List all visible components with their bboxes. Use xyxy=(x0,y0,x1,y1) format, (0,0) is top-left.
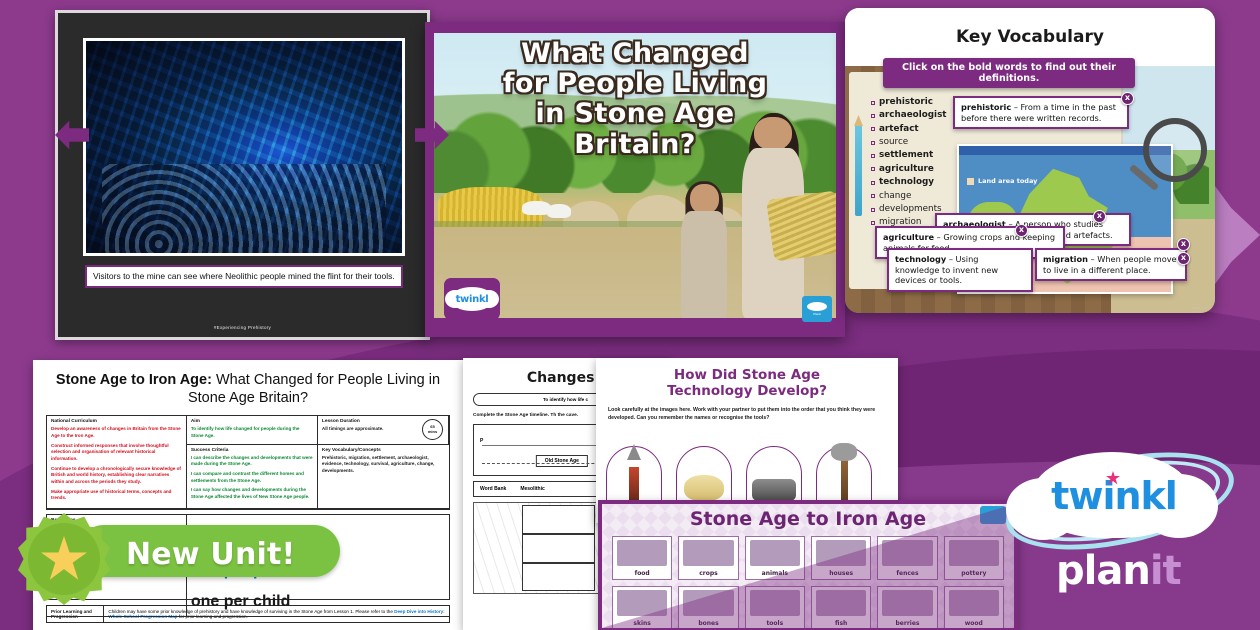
checkbox-icon xyxy=(871,194,875,198)
resource-item: one per child xyxy=(191,590,445,613)
planit-plan: plan xyxy=(1056,548,1150,594)
cave-photo-frame xyxy=(83,38,405,256)
close-icon[interactable]: x xyxy=(1093,210,1106,223)
vocabulary-word-list: prehistoric archaeologist artefact sourc… xyxy=(871,96,947,230)
cave-photo-caption: Visitors to the mine can see where Neoli… xyxy=(85,265,403,288)
next-arrow-glyph xyxy=(415,118,449,152)
cell-label: fences xyxy=(896,570,918,577)
tech-title-line-2: Technology Develop? xyxy=(612,383,882,399)
title-slide[interactable]: What Changed for People Living in Stone … xyxy=(425,22,845,337)
national-curriculum-cell: National Curriculum Develop an awareness… xyxy=(47,416,187,509)
fish-icon xyxy=(816,590,866,616)
new-unit-badge: New Unit! xyxy=(18,513,343,587)
checkbox-icon xyxy=(871,154,875,158)
vocab-item[interactable]: artefact xyxy=(871,123,947,136)
word-mat-cell[interactable]: crops xyxy=(678,536,738,580)
tool-card-axe[interactable] xyxy=(816,446,872,502)
checkbox-icon xyxy=(871,181,875,185)
definition-term: migration xyxy=(1043,254,1088,264)
prev-arrow-glyph xyxy=(55,118,89,152)
stone-age-word-mat[interactable]: Stone Age to Iron Age food crops animals… xyxy=(598,500,1018,630)
vocab-item[interactable]: agriculture xyxy=(871,163,947,176)
nc-item: Develop an awareness of changes in Brita… xyxy=(51,426,182,439)
sc-item: I can say how changes and developments d… xyxy=(191,487,313,500)
tool-card-arrow[interactable] xyxy=(606,446,662,502)
definition-dash: – xyxy=(1014,102,1018,112)
definition-dash: – xyxy=(1091,254,1095,264)
planit-wordmark: planit xyxy=(1056,548,1226,594)
lesson-plan-table: National Curriculum Develop an awareness… xyxy=(46,415,450,510)
technology-develop-card[interactable]: How Did Stone Age Technology Develop? Lo… xyxy=(596,358,898,523)
nc-item: Make appropriate use of historical terms… xyxy=(51,489,182,502)
definition-term: prehistoric xyxy=(961,102,1011,112)
vocab-item[interactable]: change xyxy=(871,190,947,203)
title-line-3: in Stone Age xyxy=(438,99,832,129)
tech-title-line-1: How Did Stone Age xyxy=(612,367,882,383)
checkbox-icon xyxy=(871,208,875,212)
cell-label: animals xyxy=(762,570,788,577)
word-mat-grid: food crops animals houses fences pottery… xyxy=(602,530,1014,630)
map-title-bar xyxy=(959,146,1171,155)
aim-heading: Aim xyxy=(191,419,313,424)
word-mat-title: Stone Age to Iron Age xyxy=(602,504,1014,530)
word-mat-cell[interactable]: bones xyxy=(678,586,738,630)
close-icon[interactable]: x xyxy=(1121,92,1134,105)
vocab-instruction-banner: Click on the bold words to find out thei… xyxy=(883,58,1135,88)
cell-label: berries xyxy=(896,620,920,627)
diagram-box xyxy=(522,563,595,592)
child-head xyxy=(690,184,719,214)
close-icon[interactable]: x xyxy=(1015,224,1028,237)
next-arrow-icon[interactable] xyxy=(415,118,449,152)
prev-arrow-icon[interactable] xyxy=(55,118,89,152)
scene-child-figure xyxy=(675,181,735,318)
slide-title: What Changed for People Living in Stone … xyxy=(428,39,842,160)
tech-tool-row xyxy=(606,446,888,502)
vocab-word: technology xyxy=(879,176,934,189)
lesson-plan-title: Stone Age to Iron Age: What Changed for … xyxy=(33,360,463,415)
nc-item: Construct informed responses that involv… xyxy=(51,443,182,463)
definition-dash: – xyxy=(937,232,941,242)
word-bank-entry: Mesolithic xyxy=(520,486,544,492)
title-line-1: What Changed xyxy=(438,39,832,69)
vocab-item[interactable]: archaeologist xyxy=(871,109,947,122)
cell-label: houses xyxy=(829,570,853,577)
arrow-tool-icon xyxy=(629,467,639,501)
vocab-word: agriculture xyxy=(879,163,934,176)
tool-card-flint[interactable] xyxy=(746,446,802,502)
cloud-icon: twinkl xyxy=(450,287,494,311)
tools-icon xyxy=(750,590,800,616)
cave-slide-footer: #Experiencing Prehistory xyxy=(58,325,427,330)
checkbox-icon xyxy=(871,114,875,118)
vocab-item[interactable]: technology xyxy=(871,176,947,189)
lesson-plan-title-rest: What Changed for People Living in Stone … xyxy=(188,372,440,406)
food-icon xyxy=(617,540,667,566)
close-icon[interactable]: x xyxy=(1177,252,1190,265)
definition-term: agriculture xyxy=(883,232,934,242)
twinkl-planit-logo: twinkl planit xyxy=(996,444,1246,614)
key-vocabulary-cell: Key Vocabulary/Concepts Prehistoric, mig… xyxy=(318,445,449,509)
cell-label: food xyxy=(635,570,650,577)
axe-tool-icon xyxy=(841,453,848,501)
vocab-word: source xyxy=(879,136,908,149)
child-body xyxy=(681,211,727,318)
cell-label: bones xyxy=(698,620,718,627)
stone-tool-icon xyxy=(684,475,724,501)
key-vocabulary-slide[interactable]: Key Vocabulary Land area today xyxy=(845,8,1215,313)
diagram-box xyxy=(522,505,595,534)
legend-swatch xyxy=(967,178,974,185)
flint-mine-photo xyxy=(86,41,402,253)
twinkl-wordmark: twinkl xyxy=(456,294,489,305)
skins-icon xyxy=(617,590,667,616)
star-icon xyxy=(41,536,87,582)
checkbox-icon xyxy=(871,141,875,145)
aim-text: To identify how life changed for people … xyxy=(191,426,313,439)
title-line-2: for People Living xyxy=(438,69,832,99)
word-mat-cell[interactable]: berries xyxy=(877,586,937,630)
tech-card-instruction: Look carefully at the images here. Work … xyxy=(608,406,886,422)
twinkl-logo-chip: twinkl xyxy=(444,278,500,320)
checkbox-icon xyxy=(871,127,875,131)
word-mat-cell[interactable]: fish xyxy=(811,586,871,630)
bones-icon xyxy=(683,590,733,616)
duration-unit: mins xyxy=(428,430,437,435)
wheat-bundle xyxy=(766,190,836,261)
success-criteria-cell: Success Criteria I can describe the chan… xyxy=(187,445,318,509)
map-legend: Land area today xyxy=(967,177,1037,185)
definition-term: technology xyxy=(895,254,946,264)
word-mat-cell[interactable]: animals xyxy=(745,536,805,580)
definition-popup-migration: migration – When people move to live in … xyxy=(1035,248,1187,281)
timeline-marker: P xyxy=(480,438,483,444)
sc-items: I can describe the changes and developme… xyxy=(191,455,313,501)
definition-popup-technology: technology – Using knowledge to invent n… xyxy=(887,248,1033,292)
vocab-word: settlement xyxy=(879,149,933,162)
sc-item: I can compare and contrast the different… xyxy=(191,471,313,484)
vocab-item[interactable]: source xyxy=(871,136,947,149)
planit-blue-badge: Planit xyxy=(802,296,832,322)
title-line-4: Britain? xyxy=(438,130,832,160)
vocab-word: developments xyxy=(879,203,942,216)
fences-icon xyxy=(882,540,932,566)
vocab-word: artefact xyxy=(879,123,919,136)
animals-icon xyxy=(750,540,800,566)
cave-photo-slide[interactable]: Visitors to the mine can see where Neoli… xyxy=(55,10,430,340)
lesson-duration-cell: Lesson Duration All timings are approxim… xyxy=(318,416,449,444)
berries-icon xyxy=(882,590,932,616)
word-mat-cell[interactable]: houses xyxy=(811,536,871,580)
nc-item: Continue to develop a chronologically se… xyxy=(51,466,182,486)
word-bank-label: Word Bank xyxy=(480,486,506,492)
vocab-word: change xyxy=(879,190,911,203)
cell-label: wood xyxy=(965,620,983,627)
definition-popup-prehistoric: prehistoric – From a time in the past be… xyxy=(953,96,1129,129)
checkbox-icon xyxy=(871,101,875,105)
word-mat-cell[interactable]: food xyxy=(612,536,672,580)
badge-cloud-icon xyxy=(807,302,827,311)
cell-label: crops xyxy=(699,570,718,577)
crops-icon xyxy=(683,540,733,566)
word-mat-cell[interactable]: fences xyxy=(877,536,937,580)
vocab-slide-title: Key Vocabulary xyxy=(956,27,1104,47)
nc-heading: National Curriculum xyxy=(51,419,182,424)
vocab-slide-footer: twinkl.com xyxy=(1190,305,1209,310)
sc-item: I can describe the changes and developme… xyxy=(191,455,313,468)
wood-icon xyxy=(949,590,999,616)
cell-label: pottery xyxy=(961,570,986,577)
magnifying-glass-icon xyxy=(1143,118,1207,182)
pottery-icon xyxy=(949,540,999,566)
kv-heading: Key Vocabulary/Concepts xyxy=(322,448,445,453)
kv-text: Prehistoric, migration, settlement, arch… xyxy=(322,455,445,475)
definition-dash: – xyxy=(949,254,953,264)
vocab-word: archaeologist xyxy=(879,109,947,122)
cell-label: tools xyxy=(766,620,783,627)
sc-heading: Success Criteria xyxy=(191,448,313,453)
timeline-tag: Old Stone Age xyxy=(536,455,588,467)
rosette-inner xyxy=(28,523,100,595)
tool-card-stone[interactable] xyxy=(676,446,732,502)
word-mat-cell[interactable]: tools xyxy=(745,586,805,630)
diagram-box xyxy=(522,534,595,563)
tech-card-title: How Did Stone Age Technology Develop? xyxy=(596,358,898,399)
word-mat-cell[interactable]: skins xyxy=(612,586,672,630)
vocab-word: prehistoric xyxy=(879,96,933,109)
nc-items: Develop an awareness of changes in Brita… xyxy=(51,426,182,502)
checkbox-icon xyxy=(871,167,875,171)
new-unit-label: New Unit! xyxy=(126,537,336,572)
close-icon[interactable]: x xyxy=(1177,238,1190,251)
pencil-icon xyxy=(855,124,862,216)
lesson-plan-title-bold: Stone Age to Iron Age: xyxy=(56,372,212,388)
planit-it: it xyxy=(1150,548,1181,594)
checkbox-icon xyxy=(871,221,875,225)
word-mat-cell[interactable]: pottery xyxy=(944,536,1004,580)
cell-label: skins xyxy=(633,620,650,627)
resource-pack-preview: Visitors to the mine can see where Neoli… xyxy=(0,0,1260,630)
duration-badge: 65 mins xyxy=(422,419,443,440)
flint-tool-icon xyxy=(752,479,796,501)
houses-icon xyxy=(816,540,866,566)
aim-cell: Aim To identify how life changed for peo… xyxy=(187,416,318,444)
vocab-item[interactable]: settlement xyxy=(871,149,947,162)
scene-sheep xyxy=(547,204,571,218)
word-mat-cell[interactable]: wood xyxy=(944,586,1004,630)
legend-label: Land area today xyxy=(978,177,1037,185)
cell-label: fish xyxy=(835,620,847,627)
badge-label: Planit xyxy=(813,313,821,316)
vocab-item[interactable]: prehistoric xyxy=(871,96,947,109)
